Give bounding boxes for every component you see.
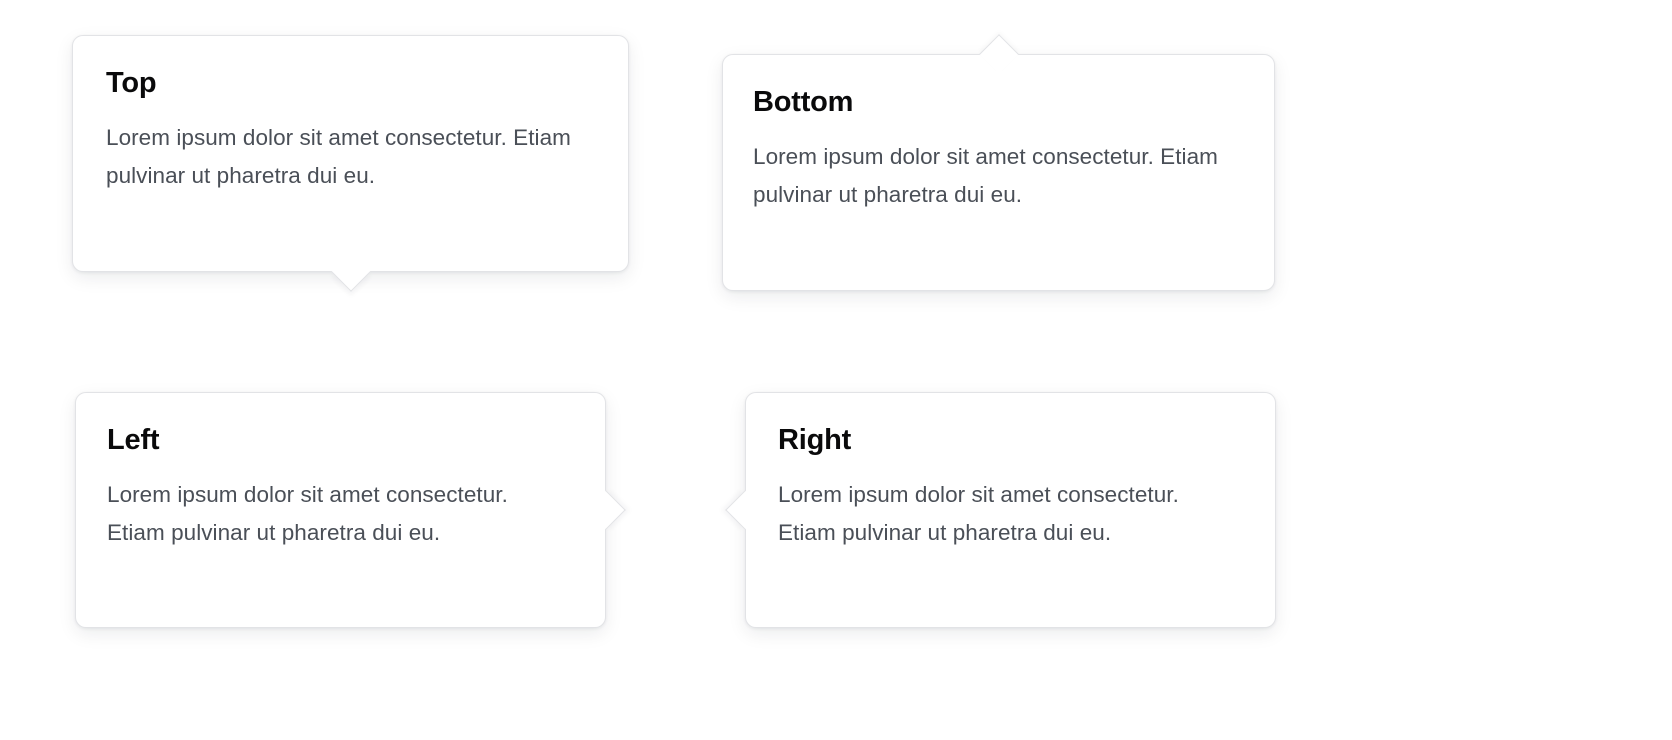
popover-right-title: Right bbox=[778, 423, 1241, 457]
arrow-right-icon bbox=[586, 490, 626, 530]
popover-bottom-title: Bottom bbox=[753, 85, 1240, 119]
popover-top[interactable]: Top Lorem ipsum dolor sit amet consectet… bbox=[72, 35, 629, 272]
popover-bottom-body: Lorem ipsum dolor sit amet consectetur. … bbox=[753, 138, 1240, 214]
popover-left-body: Lorem ipsum dolor sit amet consectetur. … bbox=[107, 476, 571, 552]
popover-left-title: Left bbox=[107, 423, 571, 457]
arrow-up-icon bbox=[979, 34, 1019, 74]
arrow-left-icon bbox=[725, 490, 765, 530]
popover-top-title: Top bbox=[106, 66, 594, 100]
popover-bottom[interactable]: Bottom Lorem ipsum dolor sit amet consec… bbox=[722, 54, 1275, 291]
popover-top-body: Lorem ipsum dolor sit amet consectetur. … bbox=[106, 119, 594, 195]
popover-right-body: Lorem ipsum dolor sit amet consectetur. … bbox=[778, 476, 1241, 552]
arrow-down-icon bbox=[331, 252, 371, 292]
popover-showcase-canvas: Top Lorem ipsum dolor sit amet consectet… bbox=[0, 0, 1672, 740]
popover-right[interactable]: Right Lorem ipsum dolor sit amet consect… bbox=[745, 392, 1276, 628]
popover-left[interactable]: Left Lorem ipsum dolor sit amet consecte… bbox=[75, 392, 606, 628]
